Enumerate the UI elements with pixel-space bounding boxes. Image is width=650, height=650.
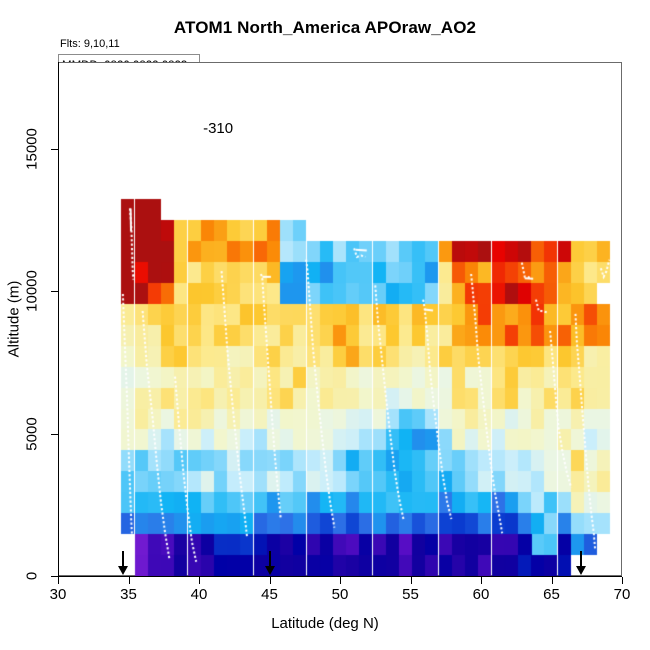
latitude-marker-arrowhead xyxy=(265,566,275,575)
y-axis-line xyxy=(58,62,59,577)
x-axis-tick xyxy=(199,577,200,584)
latitude-marker-arrow xyxy=(122,551,124,567)
heatmap-layer xyxy=(58,62,622,576)
x-axis-tick xyxy=(552,577,553,584)
y-axis-title: Altitude (m) xyxy=(6,281,23,358)
y-axis-tick-label: 5000 xyxy=(24,417,41,450)
x-axis-title: Latitude (deg N) xyxy=(0,615,650,632)
x-axis-tick-label: 45 xyxy=(261,586,278,603)
y-axis-tick xyxy=(51,149,58,150)
x-axis-tick-label: 40 xyxy=(191,586,208,603)
heatmap-canvas xyxy=(58,62,622,576)
latitude-marker-arrow xyxy=(580,551,582,567)
plot-canvas: ATOM1 North_America APOraw_AO2 Flts: 9,1… xyxy=(0,0,650,650)
flights-label: Flts: 9,10,11 xyxy=(60,38,120,50)
latitude-marker-arrowhead xyxy=(576,566,586,575)
x-axis-tick-label: 70 xyxy=(614,586,631,603)
y-axis-tick-label: 15000 xyxy=(24,128,41,170)
x-axis-tick xyxy=(58,577,59,584)
x-axis-tick-label: 65 xyxy=(543,586,560,603)
y-axis-tick-label: 0 xyxy=(24,572,41,580)
x-axis-tick-label: 50 xyxy=(332,586,349,603)
y-axis-tick-label: 10000 xyxy=(24,270,41,312)
y-axis-tick xyxy=(51,434,58,435)
x-axis-tick xyxy=(411,577,412,584)
page-title: ATOM1 North_America APOraw_AO2 xyxy=(0,18,650,38)
colorbar-tick-label: -310 xyxy=(203,120,233,137)
y-axis-tick xyxy=(51,576,58,577)
x-axis-tick-label: 60 xyxy=(473,586,490,603)
latitude-marker-arrowhead xyxy=(118,566,128,575)
x-axis-tick xyxy=(270,577,271,584)
x-axis-tick xyxy=(340,577,341,584)
x-axis-tick xyxy=(129,577,130,584)
x-axis-tick xyxy=(622,577,623,584)
x-axis-tick-label: 30 xyxy=(50,586,67,603)
latitude-marker-arrow xyxy=(269,551,271,567)
x-axis-tick-label: 55 xyxy=(402,586,419,603)
x-axis-tick xyxy=(481,577,482,584)
y-axis-tick xyxy=(51,291,58,292)
x-axis-tick-label: 35 xyxy=(120,586,137,603)
